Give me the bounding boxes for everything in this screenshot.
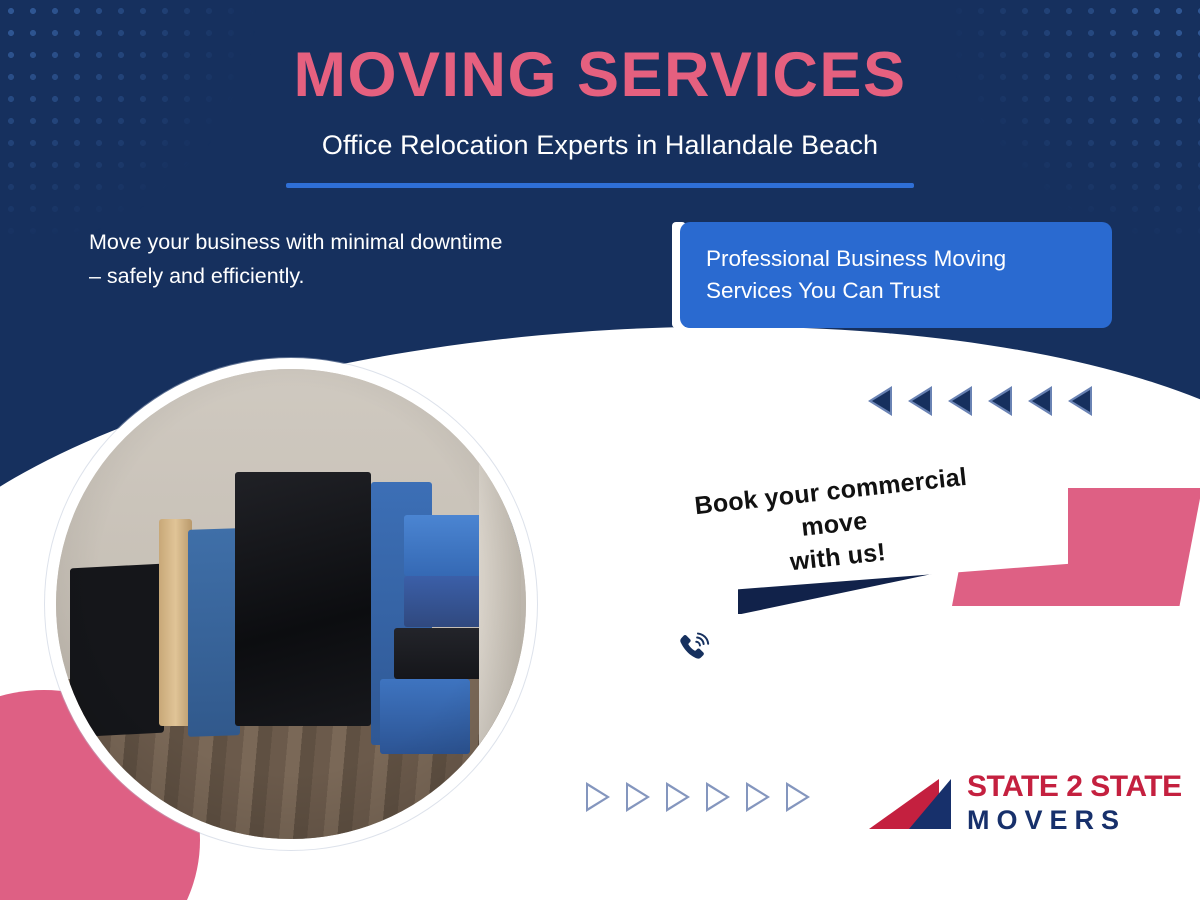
logo-name-top: STATE 2 STATE <box>967 772 1182 802</box>
triangle-right-icon <box>586 782 610 812</box>
ribbon-banner: Book your commercial move with us! <box>600 470 1100 620</box>
logo-name-bottom: MOVERS <box>967 805 1182 836</box>
triangle-right-icon-row <box>586 782 810 812</box>
triangle-right-icon <box>666 782 690 812</box>
triangle-left-icon <box>1028 386 1052 416</box>
triangle-left-icon <box>908 386 932 416</box>
intro-text: Move your business with minimal downtime… <box>89 226 519 294</box>
triangle-right-icon <box>786 782 810 812</box>
triangle-right-icon <box>706 782 730 812</box>
photo-vignette <box>56 369 526 839</box>
logo-wordmark: STATE 2 STATE MOVERS <box>967 772 1182 836</box>
header-divider <box>286 183 914 188</box>
phone-ringing-icon <box>666 620 721 675</box>
photo-circle-frame <box>45 358 537 850</box>
callout-panel: Professional Business Moving Services Yo… <box>680 222 1112 328</box>
triangle-right-icon <box>746 782 770 812</box>
phone-contact[interactable]: 888-794-1112 <box>666 620 929 675</box>
company-logo[interactable]: STATE 2 STATE MOVERS <box>869 772 1182 836</box>
callout-text: Professional Business Moving Services Yo… <box>706 243 1086 307</box>
poster-canvas: MOVING SERVICES Office Relocation Expert… <box>0 0 1200 900</box>
triangle-left-icon-row <box>868 386 1092 416</box>
triangle-left-icon <box>948 386 972 416</box>
triangle-left-icon <box>1068 386 1092 416</box>
page-title: MOVING SERVICES <box>0 44 1200 107</box>
moving-photo <box>56 369 526 839</box>
double-triangle-logo-icon <box>869 773 953 835</box>
triangle-left-icon <box>868 386 892 416</box>
header: MOVING SERVICES Office Relocation Expert… <box>0 44 1200 188</box>
ribbon-line-1: Book your commercial move <box>693 463 968 542</box>
callout-box: Professional Business Moving Services Yo… <box>672 222 1112 328</box>
phone-number[interactable]: 888-794-1112 <box>741 631 929 665</box>
triangle-left-icon <box>988 386 1012 416</box>
triangle-right-icon <box>626 782 650 812</box>
page-subtitle: Office Relocation Experts in Hallandale … <box>0 130 1200 161</box>
